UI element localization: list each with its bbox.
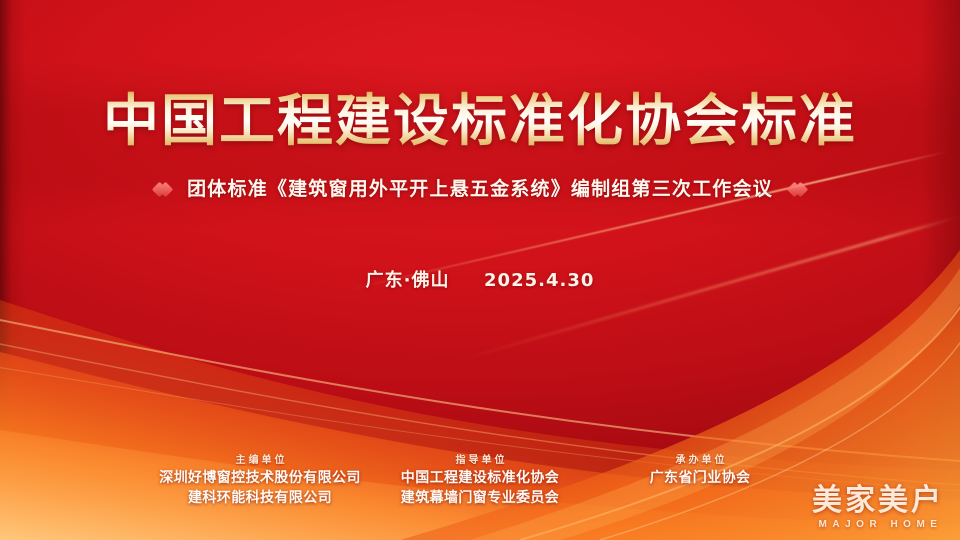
credits-row: 主编单位 深圳好博窗控技术股份有限公司 建科环能科技有限公司 指导单位 中国工程… bbox=[150, 453, 810, 508]
credit-organization: 中国工程建设标准化协会 bbox=[374, 468, 586, 488]
credit-organization: 深圳好博窗控技术股份有限公司 bbox=[154, 468, 366, 488]
credit-organization: 建科环能科技有限公司 bbox=[154, 488, 366, 508]
credit-column-chief-editor: 主编单位 深圳好博窗控技术股份有限公司 建科环能科技有限公司 bbox=[150, 453, 370, 508]
page-title: 中国工程建设标准化协会标准 bbox=[0, 88, 960, 156]
diamond-ornament-left-icon bbox=[154, 181, 171, 198]
diamond-ornament-right-icon bbox=[789, 181, 806, 198]
credit-role-label: 指导单位 bbox=[374, 453, 586, 468]
credit-organization: 广东省门业协会 bbox=[594, 468, 806, 488]
credit-role-label: 承办单位 bbox=[594, 453, 806, 468]
event-location: 广东·佛山 bbox=[366, 270, 450, 291]
subtitle-row: 团体标准《建筑窗用外平开上悬五金系统》编制组第三次工作会议 bbox=[0, 176, 960, 202]
credit-organization: 建筑幕墙门窗专业委员会 bbox=[374, 488, 586, 508]
poster-canvas: 中国工程建设标准化协会标准 团体标准《建筑窗用外平开上悬五金系统》编制组第三次工… bbox=[0, 0, 960, 540]
subtitle-text: 团体标准《建筑窗用外平开上悬五金系统》编制组第三次工作会议 bbox=[187, 176, 773, 202]
credit-column-organizer: 承办单位 广东省门业协会 bbox=[590, 453, 810, 488]
credit-role-label: 主编单位 bbox=[154, 453, 366, 468]
event-date: 2025.4.30 bbox=[484, 270, 594, 291]
credit-column-guidance: 指导单位 中国工程建设标准化协会 建筑幕墙门窗专业委员会 bbox=[370, 453, 590, 508]
event-meta: 广东·佛山 2025.4.30 bbox=[0, 268, 960, 294]
